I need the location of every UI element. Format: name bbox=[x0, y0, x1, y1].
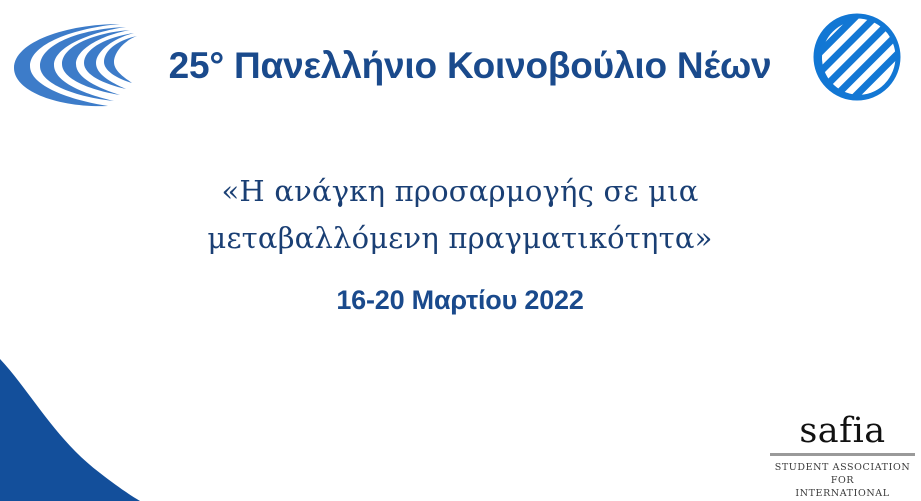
hellenic-parliament-logo bbox=[8, 18, 143, 112]
safia-wordmark: safia STUDENT ASSOCIATION FOR INTERNATIO… bbox=[770, 412, 915, 501]
event-date: 16-20 Μαρτίου 2022 bbox=[130, 285, 790, 316]
safia-tagline-line-2: INTERNATIONAL AFFAIRS bbox=[770, 487, 915, 501]
slide-title: 25° Πανελλήνιο Κοινοβούλιο Νέων bbox=[150, 35, 790, 97]
safia-wordmark-text: safia bbox=[770, 412, 915, 450]
safia-tagline-line-1: STUDENT ASSOCIATION FOR bbox=[770, 461, 915, 487]
slide-header: 25° Πανελλήνιο Κοινοβούλιο Νέων bbox=[0, 0, 921, 128]
corner-swoosh-decoration bbox=[0, 351, 230, 501]
safia-tagline: STUDENT ASSOCIATION FOR INTERNATIONAL AF… bbox=[770, 461, 915, 501]
presentation-slide: 25° Πανελλήνιο Κοινοβούλιο Νέων bbox=[0, 0, 921, 501]
safia-circle-logo bbox=[806, 10, 904, 108]
safia-divider-rule bbox=[770, 453, 915, 456]
subtitle-line-2: μεταβαλλόμενη πραγματικότητα» bbox=[130, 215, 790, 262]
subtitle-line-1: «Η ανάγκη προσαρμογής σε μια bbox=[130, 168, 790, 215]
slide-subtitle: «Η ανάγκη προσαρμογής σε μια μεταβαλλόμε… bbox=[130, 168, 790, 262]
